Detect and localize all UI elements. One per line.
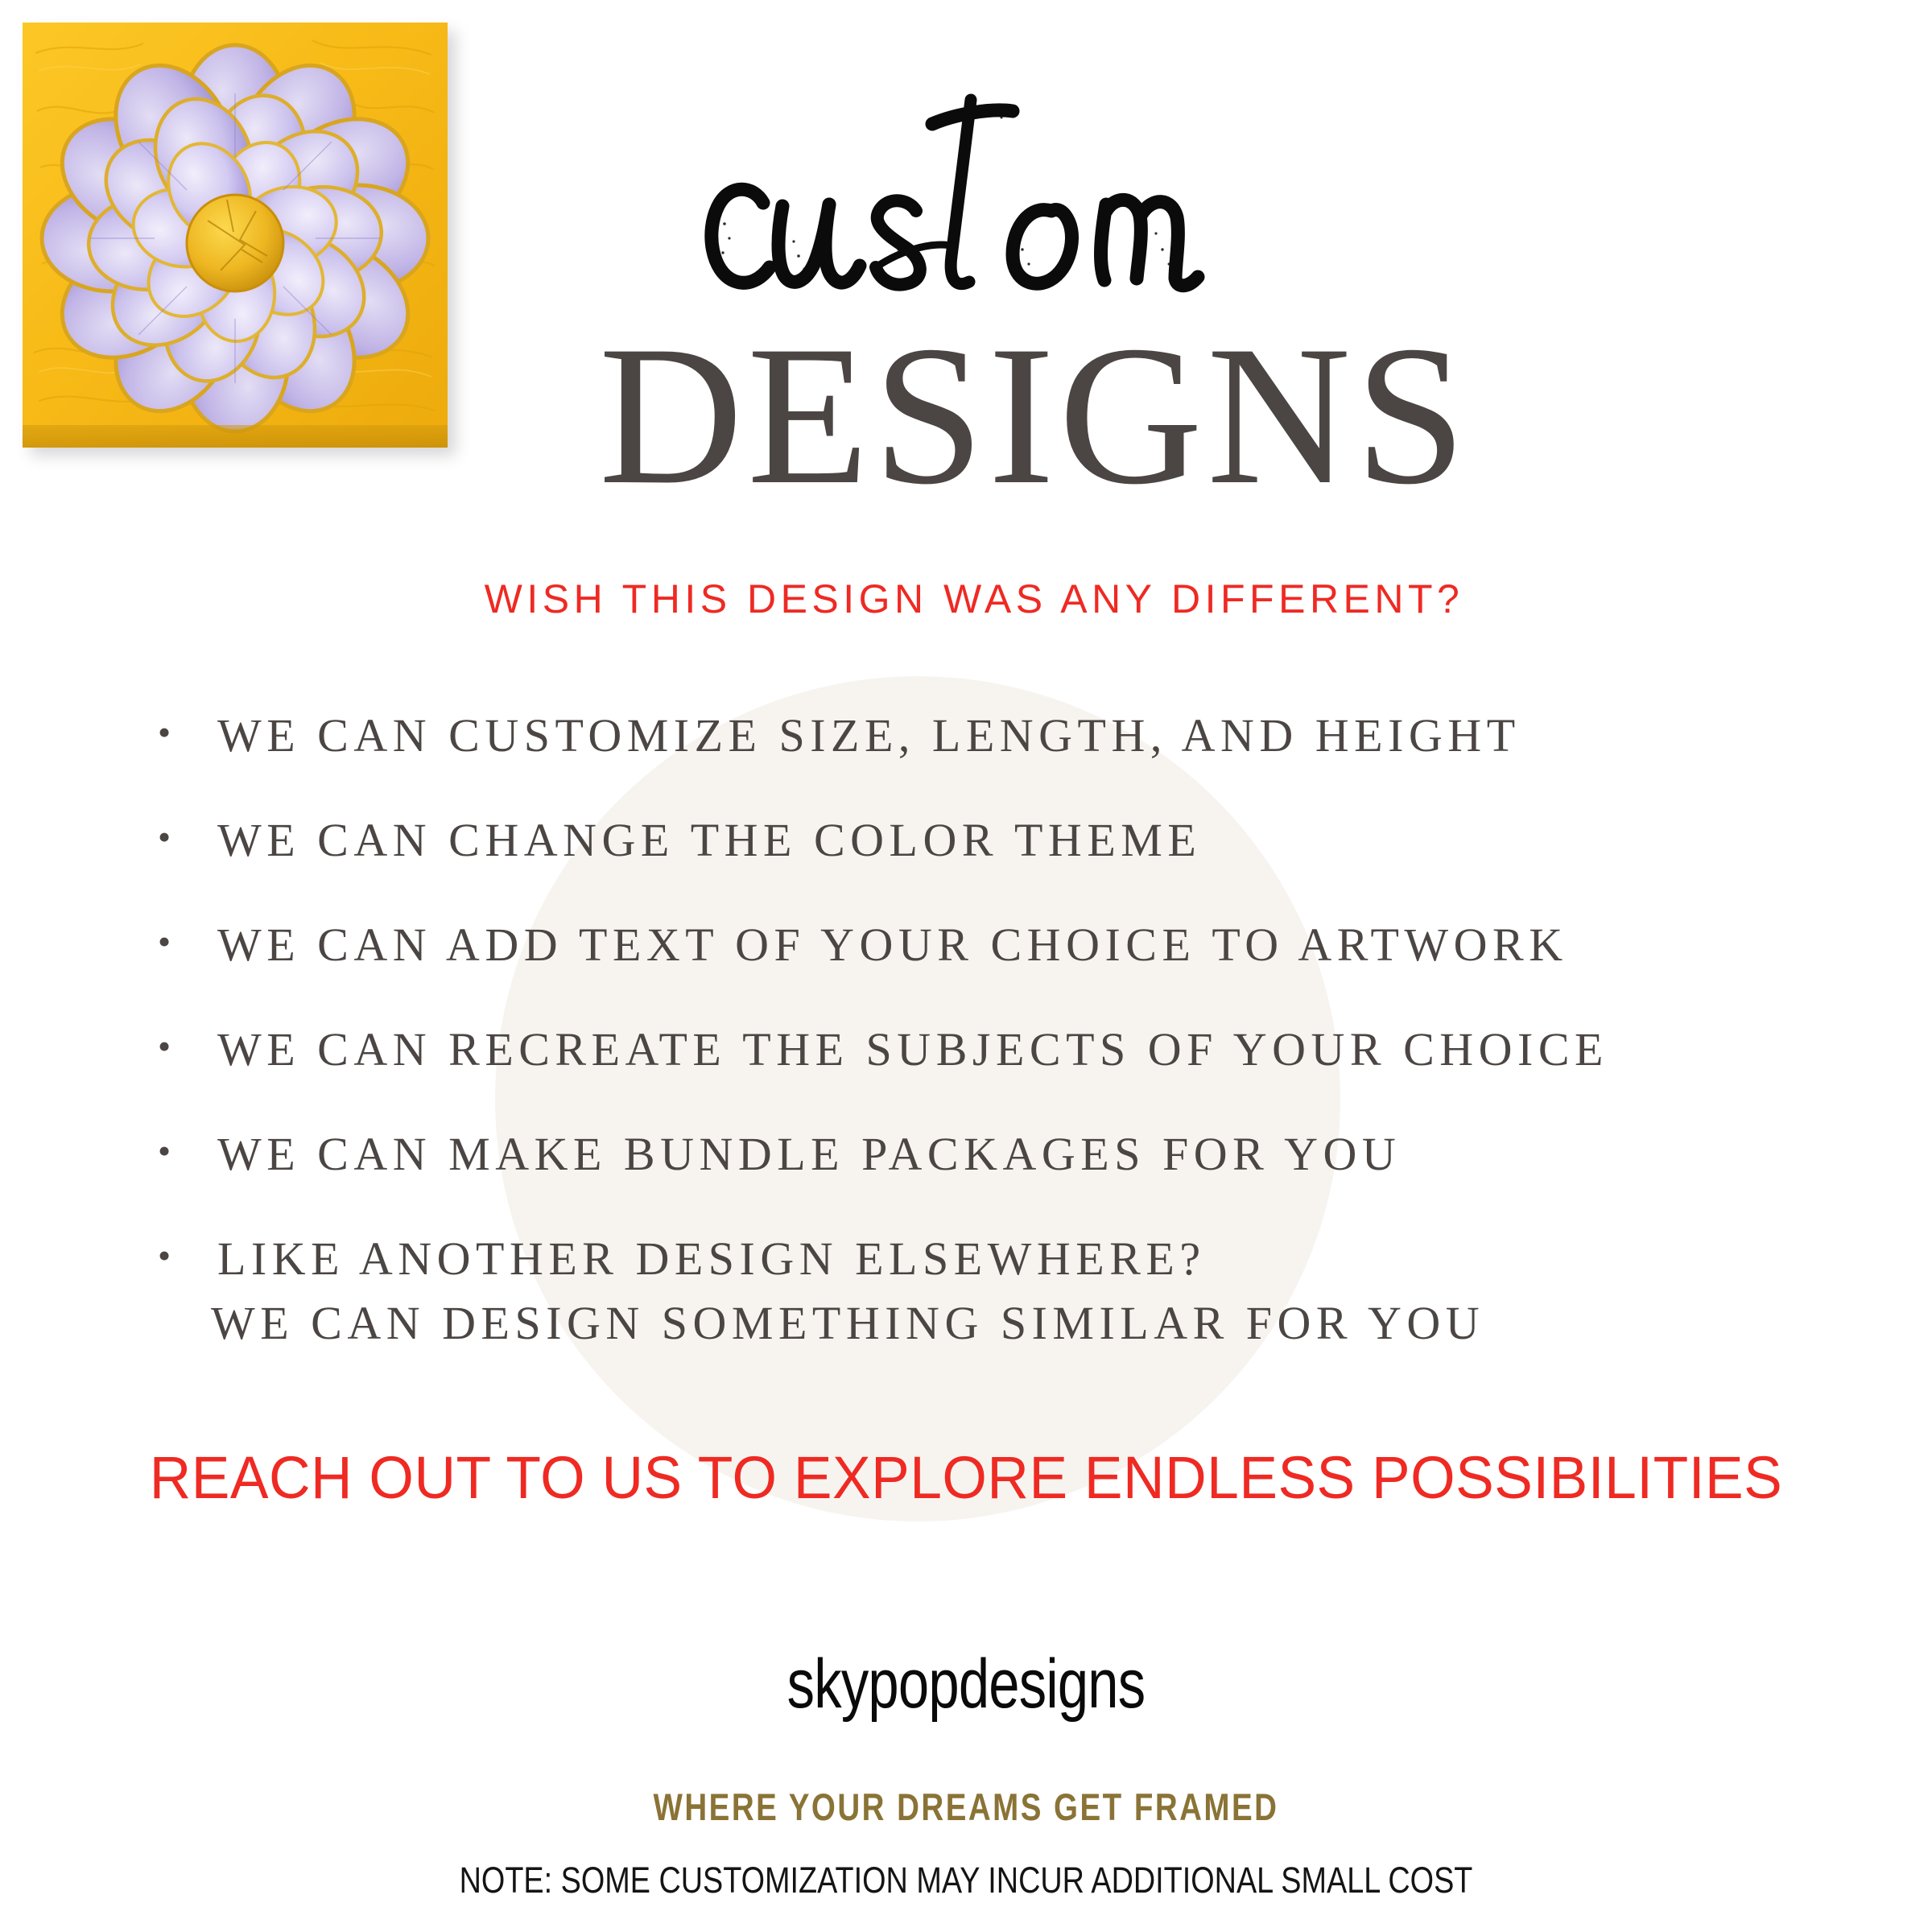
list-item-label: WE CAN ADD TEXT OF YOUR CHOICE TO ARTWOR… [179,918,1848,972]
bullet-dot-icon: • [158,923,179,960]
footnote-disclaimer: NOTE: SOME CUSTOMIZATION MAY INCUR ADDIT… [155,1860,1777,1901]
script-title-custom [676,89,1272,322]
list-item-label: WE CAN CHANGE THE COLOR THEME [179,813,1848,867]
bullet-dot-icon: • [158,714,179,751]
brand-name: skypopdesigns [193,1645,1739,1724]
list-item-label: WE CAN MAKE BUNDLE PACKAGES FOR YOU [179,1127,1848,1181]
list-item-label: LIKE ANOTHER DESIGN ELSEWHERE? [179,1232,1848,1286]
bullet-dot-icon: • [158,819,179,856]
subtitle-question: WISH THIS DESIGN WAS ANY DIFFERENT? [0,576,1932,622]
list-item-continuation-label: WE CAN DESIGN SOMETHING SIMILAR FOR YOU [211,1296,1484,1350]
handwritten-custom-wordmark-icon [676,89,1272,322]
list-item-label: WE CAN RECREATE THE SUBJECTS OF YOUR CHO… [179,1022,1848,1076]
bullet-dot-icon: • [158,1237,179,1274]
list-item: • WE CAN ADD TEXT OF YOUR CHOICE TO ARTW… [158,918,1848,1022]
list-item: • WE CAN CUSTOMIZE SIZE, LENGTH, AND HEI… [158,708,1848,813]
customization-options-list: • WE CAN CUSTOMIZE SIZE, LENGTH, AND HEI… [158,708,1848,1336]
bullet-dot-icon: • [158,1028,179,1065]
brand-tagline: WHERE YOUR DREAMS GET FRAMED [174,1785,1758,1829]
bullet-dot-icon: • [158,1133,179,1170]
list-item-label: WE CAN CUSTOMIZE SIZE, LENGTH, AND HEIGH… [179,708,1848,762]
list-item: • WE CAN MAKE BUNDLE PACKAGES FOR YOU [158,1127,1848,1232]
list-item: • WE CAN CHANGE THE COLOR THEME [158,813,1848,918]
call-to-action-text: REACH OUT TO US TO EXPLORE ENDLESS POSSI… [34,1443,1898,1512]
page-title: DESIGNS [0,316,1932,515]
list-item: • WE CAN RECREATE THE SUBJECTS OF YOUR C… [158,1022,1848,1127]
